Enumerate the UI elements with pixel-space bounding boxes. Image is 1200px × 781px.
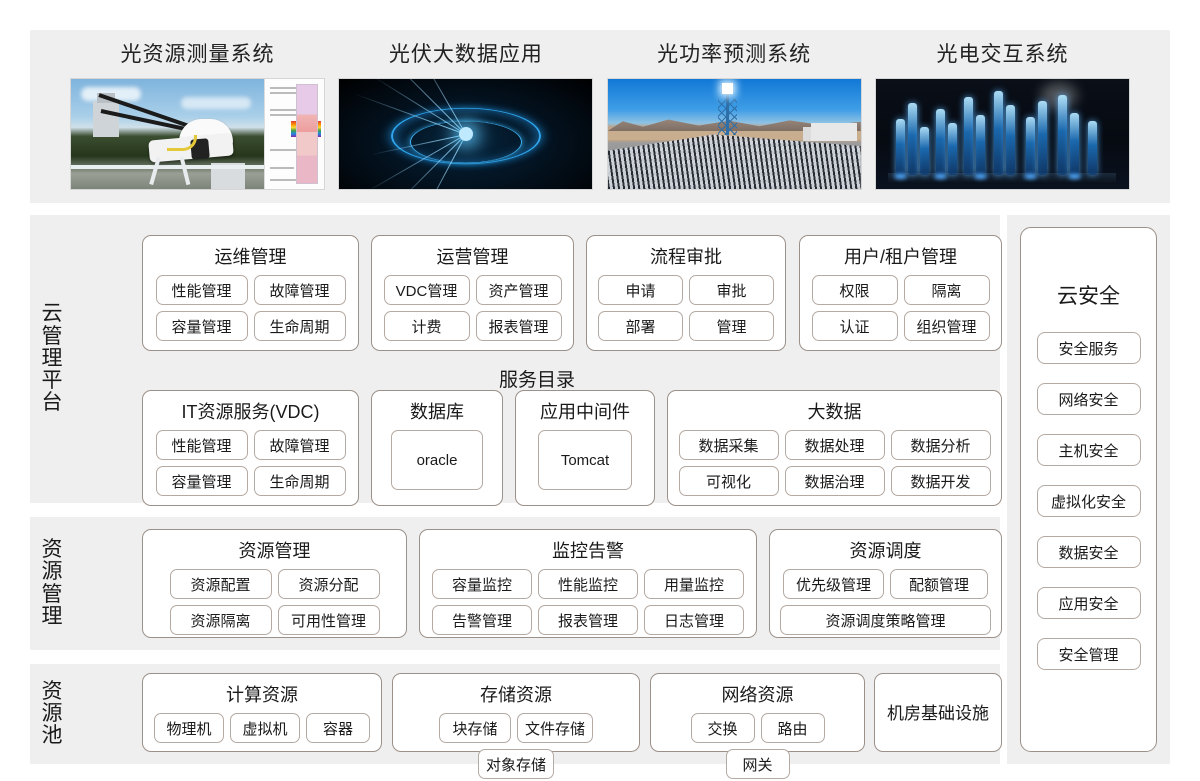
chip[interactable]: 生命周期 (254, 466, 346, 496)
card-title: 资源管理 (239, 537, 311, 563)
building-shape (93, 101, 119, 137)
chip[interactable]: 资产管理 (476, 275, 562, 305)
chip[interactable]: 可用性管理 (278, 605, 380, 635)
chip[interactable]: 配额管理 (890, 569, 988, 599)
cloud-security-card[interactable]: 云安全 安全服务 网络安全 主机安全 虚拟化安全 数据安全 应用安全 安全管理 (1020, 227, 1157, 752)
chip[interactable]: 隔离 (904, 275, 990, 305)
chip[interactable]: 对象存储 (478, 749, 554, 779)
resource-pool-band: 资 源 池 计算资源 物理机 虚拟机 容器 存储资源 块存储 文件存储 对象存储 (30, 664, 1000, 764)
chip[interactable]: 数据分析 (891, 430, 991, 460)
security-chip[interactable]: 安全服务 (1037, 332, 1141, 364)
pyranometer-photo (70, 78, 325, 190)
chip[interactable]: 组织管理 (904, 311, 990, 341)
vlabel-char: 理 (42, 348, 63, 370)
chip[interactable]: 交换 (691, 713, 755, 743)
cloud-platform-label: 云 管 理 平 台 (30, 303, 74, 414)
tripod-leg (180, 157, 191, 185)
chip[interactable]: 资源配置 (170, 569, 272, 599)
chip[interactable]: 容量监控 (432, 569, 532, 599)
chip[interactable]: 告警管理 (432, 605, 532, 635)
cloud-security-panel: 云安全 安全服务 网络安全 主机安全 虚拟化安全 数据安全 应用安全 安全管理 (1007, 215, 1170, 764)
card-title: 运营管理 (437, 243, 509, 269)
cloud-platform-band: 云 管 理 平 台 运维管理 性能管理 故障管理 容量管理 生命周期 运营管理 … (30, 215, 1000, 503)
chip[interactable]: 数据开发 (891, 466, 991, 496)
chip[interactable]: 容器 (306, 713, 370, 743)
vlabel-char: 池 (42, 725, 63, 747)
chip[interactable]: 管理 (689, 311, 774, 341)
security-chip[interactable]: 网络安全 (1037, 383, 1141, 415)
security-chip[interactable]: 数据安全 (1037, 536, 1141, 568)
group-card-user-tenant[interactable]: 用户/租户管理 权限 隔离 认证 组织管理 (799, 235, 1002, 351)
showcase-item-2: 光伏大数据应用 (338, 38, 593, 190)
group-card-process-approval[interactable]: 流程审批 申请 审批 部署 管理 (586, 235, 786, 351)
chip[interactable]: 性能管理 (156, 275, 248, 305)
group-card-big-data[interactable]: 大数据 数据采集 数据处理 数据分析 可视化 数据治理 数据开发 (667, 390, 1002, 506)
security-chip[interactable]: 虚拟化安全 (1037, 485, 1141, 517)
resource-management-band: 资 源 管 理 资源管理 资源配置 资源分配 资源隔离 可用性管理 监控告警 容… (30, 517, 1000, 650)
group-card-database[interactable]: 数据库 oracle (371, 390, 503, 506)
chip[interactable]: 容量管理 (156, 311, 248, 341)
card-title: 存储资源 (480, 681, 552, 707)
chip[interactable]: 网关 (726, 749, 790, 779)
chip[interactable]: Tomcat (538, 430, 632, 490)
cloud-security-title: 云安全 (1057, 280, 1120, 310)
group-card-resource-management[interactable]: 资源管理 资源配置 资源分配 资源隔离 可用性管理 (142, 529, 407, 638)
chip[interactable]: 申请 (598, 275, 683, 305)
card-title: 计算资源 (226, 681, 298, 707)
solar-thermal-plant-photo (607, 78, 862, 190)
security-chip[interactable]: 应用安全 (1037, 587, 1141, 619)
chip[interactable]: 资源分配 (278, 569, 380, 599)
photo-scene (71, 79, 264, 189)
railing (71, 165, 264, 169)
chip[interactable]: 部署 (598, 311, 683, 341)
vlabel-char: 资 (42, 539, 63, 561)
resource-pool-body: 计算资源 物理机 虚拟机 容器 存储资源 块存储 文件存储 对象存储 网络资源 (74, 664, 1000, 764)
chip[interactable]: 可视化 (679, 466, 779, 496)
card-title: IT资源服务(VDC) (182, 398, 320, 424)
showcase-item-3: 光功率预测系统 (607, 38, 862, 190)
card-title: 应用中间件 (540, 398, 630, 424)
vlabel-char: 云 (42, 303, 63, 325)
group-card-compute-resource[interactable]: 计算资源 物理机 虚拟机 容器 (142, 673, 382, 752)
chip[interactable]: 故障管理 (254, 275, 346, 305)
group-card-datacenter-infrastructure[interactable]: 机房基础设施 (874, 673, 1002, 752)
chip[interactable]: 资源调度策略管理 (780, 605, 991, 635)
group-card-middleware[interactable]: 应用中间件 Tomcat (515, 390, 655, 506)
chip[interactable]: VDC管理 (384, 275, 470, 305)
card-title: 机房基础设施 (887, 699, 989, 724)
showcase-band: 光资源测量系统 (30, 30, 1170, 203)
plant-buildings (811, 123, 857, 141)
card-title: 网络资源 (722, 681, 794, 707)
card-title: 大数据 (808, 398, 862, 424)
card-title: 用户/租户管理 (844, 243, 957, 269)
architecture-diagram: 光资源测量系统 (0, 0, 1200, 781)
chip[interactable]: 计费 (384, 311, 470, 341)
resource-management-body: 资源管理 资源配置 资源分配 资源隔离 可用性管理 监控告警 容量监控 性能监控… (74, 517, 1000, 650)
cloud-platform-body: 运维管理 性能管理 故障管理 容量管理 生命周期 运营管理 VDC管理 资产管理… (74, 215, 1000, 503)
chip[interactable]: 物理机 (154, 713, 224, 743)
chip[interactable]: 优先级管理 (783, 569, 884, 599)
showcase-item-1: 光资源测量系统 (70, 38, 325, 190)
card-title: 流程审批 (650, 243, 722, 269)
tower-receiver (722, 83, 733, 94)
vlabel-char: 源 (42, 561, 63, 583)
service-catalog-title: 服务目录 (74, 365, 1000, 392)
chip[interactable]: 性能监控 (538, 569, 638, 599)
group-card-storage-resource[interactable]: 存储资源 块存储 文件存储 对象存储 (392, 673, 640, 752)
showcase-title-3: 光功率预测系统 (657, 38, 811, 68)
vlabel-char: 源 (42, 703, 63, 725)
chip[interactable]: 数据采集 (679, 430, 779, 460)
chip[interactable]: 审批 (689, 275, 774, 305)
card-title: 监控告警 (552, 537, 624, 563)
chip[interactable]: 日志管理 (644, 605, 744, 635)
showcase-title-2: 光伏大数据应用 (389, 38, 543, 68)
group-card-operations[interactable]: 运营管理 VDC管理 资产管理 计费 报表管理 (371, 235, 574, 351)
vlabel-char: 平 (42, 370, 63, 392)
vlabel-char: 台 (42, 392, 63, 414)
group-card-it-resource-service[interactable]: IT资源服务(VDC) 性能管理 故障管理 容量管理 生命周期 (142, 390, 359, 506)
chip[interactable]: 数据治理 (785, 466, 885, 496)
showcase-title-1: 光资源测量系统 (121, 38, 275, 68)
cloud-shape (181, 97, 251, 109)
chip[interactable]: 性能管理 (156, 430, 248, 460)
vlabel-char: 理 (42, 606, 63, 628)
chip[interactable]: oracle (391, 430, 483, 490)
group-card-ops-maintenance[interactable]: 运维管理 性能管理 故障管理 容量管理 生命周期 (142, 235, 359, 351)
chip[interactable]: 文件存储 (517, 713, 593, 743)
blue-light-tubes-photo (875, 78, 1130, 190)
big-data-visualization (338, 78, 593, 190)
vlabel-char: 管 (42, 326, 63, 348)
group-card-network-resource[interactable]: 网络资源 交换 路由 网关 (650, 673, 865, 752)
chip[interactable]: 资源隔离 (170, 605, 272, 635)
chip[interactable]: 生命周期 (254, 311, 346, 341)
showcase-item-4: 光电交互系统 (875, 38, 1130, 190)
spectrum-sheet (264, 79, 324, 189)
chip[interactable]: 数据处理 (785, 430, 885, 460)
chip[interactable]: 认证 (812, 311, 898, 341)
chip[interactable]: 容量管理 (156, 466, 248, 496)
chip[interactable]: 路由 (761, 713, 825, 743)
chip[interactable]: 报表管理 (538, 605, 638, 635)
chip[interactable]: 报表管理 (476, 311, 562, 341)
security-chip[interactable]: 安全管理 (1037, 638, 1141, 670)
card-title: 资源调度 (850, 537, 922, 563)
card-title: 数据库 (410, 398, 464, 424)
card-title: 运维管理 (215, 243, 287, 269)
vlabel-char: 管 (42, 584, 63, 606)
chip[interactable]: 块存储 (439, 713, 511, 743)
group-card-resource-scheduling[interactable]: 资源调度 优先级管理 配额管理 资源调度策略管理 (769, 529, 1002, 638)
tower-mast (726, 87, 729, 135)
vlabel-char: 资 (42, 681, 63, 703)
showcase-title-4: 光电交互系统 (936, 38, 1068, 68)
resource-pool-label: 资 源 池 (30, 681, 74, 748)
resource-management-label: 资 源 管 理 (30, 539, 74, 628)
chip[interactable]: 用量监控 (644, 569, 744, 599)
group-card-monitoring-alarm[interactable]: 监控告警 容量监控 性能监控 用量监控 告警管理 报表管理 日志管理 (419, 529, 757, 638)
security-chip[interactable]: 主机安全 (1037, 434, 1141, 466)
center-glow (459, 127, 473, 141)
chip[interactable]: 权限 (812, 275, 898, 305)
spectrum-column (296, 84, 318, 184)
chip[interactable]: 故障管理 (254, 430, 346, 460)
chip[interactable]: 虚拟机 (230, 713, 300, 743)
